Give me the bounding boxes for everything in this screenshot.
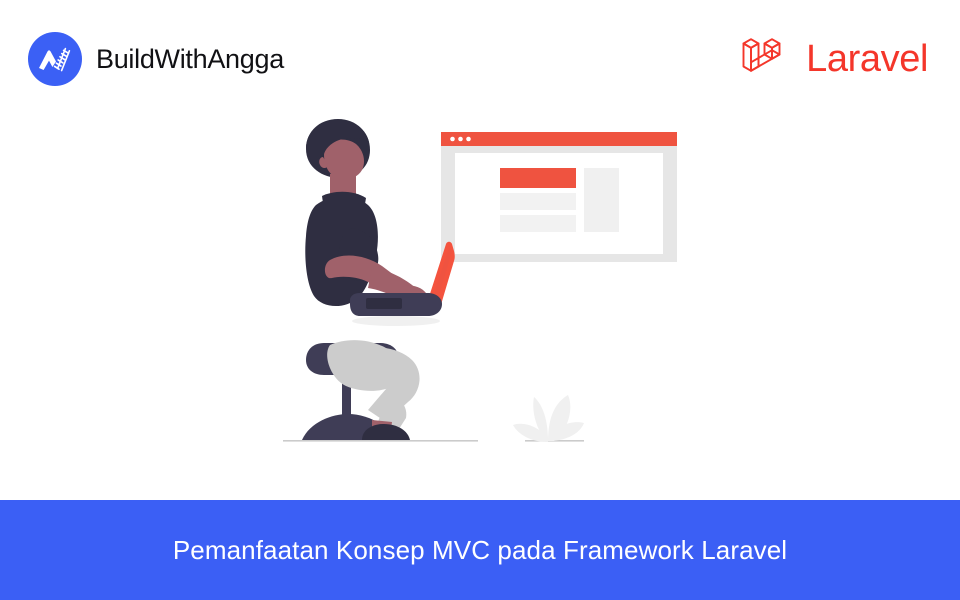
hero-illustration	[0, 110, 960, 495]
plant-leaf-icon	[513, 395, 584, 442]
banner-title-text: Pemanfaatan Konsep MVC pada Framework La…	[173, 535, 787, 566]
window-dots-icon	[450, 137, 471, 142]
buildwithangga-logo-icon	[28, 32, 82, 86]
browser-window-mockup	[441, 132, 677, 262]
laravel-lockup: Laravel	[736, 28, 928, 89]
seated-developer-figure	[302, 119, 455, 440]
ground-line-left	[283, 440, 478, 442]
header: BuildWithAngga	[0, 0, 960, 115]
laravel-wordmark: Laravel	[806, 40, 928, 78]
laravel-mark-icon	[736, 28, 792, 89]
brand-lockup: BuildWithAngga	[28, 32, 284, 86]
brand-name-label: BuildWithAngga	[96, 44, 284, 75]
slide-canvas: BuildWithAngga	[0, 0, 960, 600]
title-banner: Pemanfaatan Konsep MVC pada Framework La…	[0, 500, 960, 600]
